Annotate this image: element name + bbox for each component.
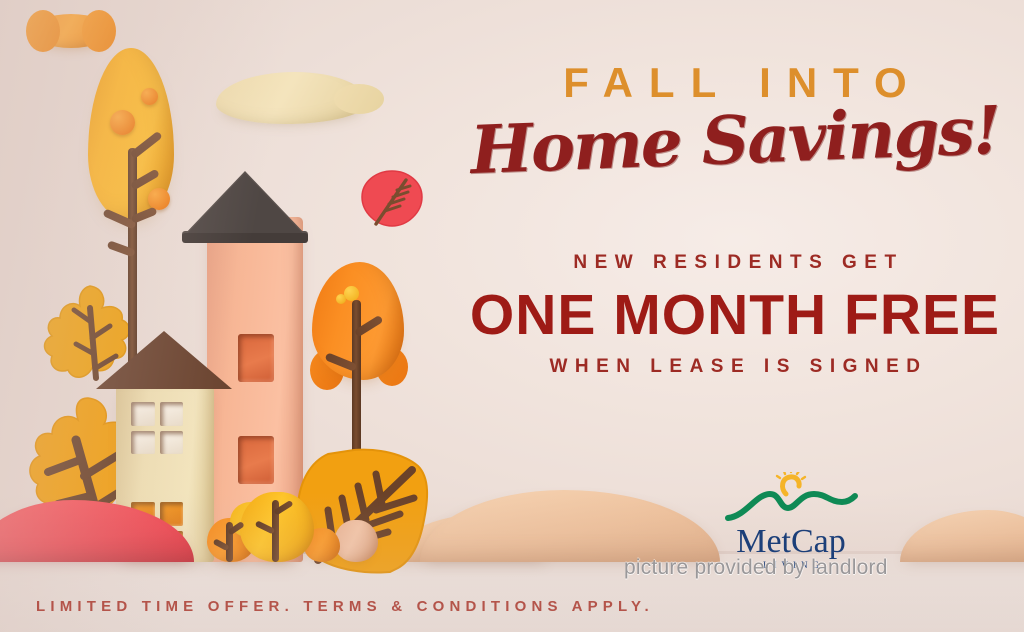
cream-cloud-blob: [216, 72, 368, 124]
tower-window: [238, 334, 274, 382]
tree-dot: [336, 294, 346, 304]
hills-and-sun-icon: [722, 472, 860, 524]
tower-roof: [182, 173, 308, 239]
small-red-leaf-icon: [358, 168, 426, 232]
tower-window: [238, 436, 274, 484]
watermark-text: picture provided by landlord: [624, 556, 888, 580]
house-roof: [96, 331, 232, 389]
offer-condition: WHEN LEASE IS SIGNED: [462, 356, 1008, 378]
offer-block: NEW RESIDENTS GET ONE MONTH FREE WHEN LE…: [462, 252, 1008, 378]
logo-wordmark: MetCap: [722, 525, 860, 559]
house-window-upper: [131, 402, 183, 454]
tree-dot: [344, 286, 359, 301]
headline-script: Home Savings!: [461, 92, 1010, 191]
promotional-banner: FALL INTO Home Savings! NEW RESIDENTS GE…: [0, 0, 1024, 632]
offer-eyebrow: NEW RESIDENTS GET: [462, 252, 1008, 274]
floating-orange-blob: [32, 14, 110, 48]
tree-berry: [141, 88, 158, 105]
tree-berry: [110, 110, 135, 135]
offer-headline: ONE MONTH FREE: [462, 286, 1008, 344]
headline-block: FALL INTO Home Savings!: [462, 62, 1008, 180]
disclaimer-ribbon: LIMITED TIME OFFER. TERMS & CONDITIONS A…: [0, 580, 1024, 632]
peach-pumpkin: [334, 520, 378, 562]
disclaimer-text: LIMITED TIME OFFER. TERMS & CONDITIONS A…: [36, 598, 654, 615]
tan-hill-main: [420, 490, 720, 562]
tan-hill-right: [900, 510, 1024, 562]
